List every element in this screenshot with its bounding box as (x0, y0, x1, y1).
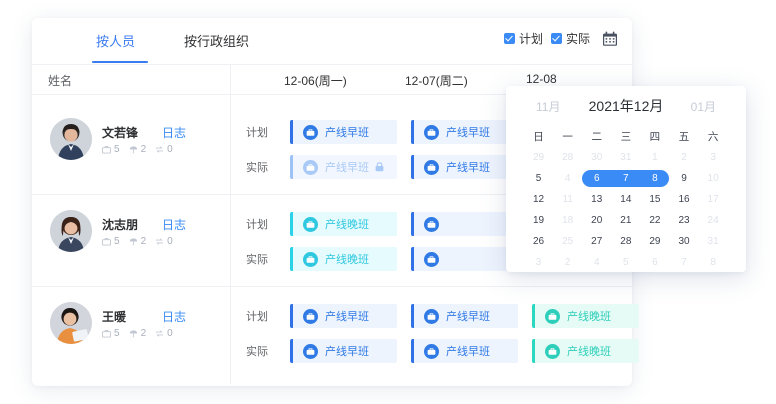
calendar-day[interactable]: 31 (699, 236, 728, 247)
shift-chip[interactable]: 产线早班 (290, 120, 397, 144)
calendar-day[interactable]: 20 (582, 215, 611, 226)
calendar-day[interactable]: 8 (699, 257, 728, 268)
calendar-day[interactable]: 22 (640, 215, 669, 226)
lock-icon (375, 162, 384, 172)
stat-shifts-value: 5 (114, 236, 120, 247)
chip-accent-bar (290, 212, 293, 236)
chip-accent-bar (290, 304, 293, 328)
calendar-day[interactable]: 24 (699, 215, 728, 226)
weekday-label: 日 (524, 129, 553, 144)
swap-icon (155, 145, 164, 154)
chip-accent-bar (411, 120, 414, 144)
chip-label: 产线晚班 (567, 343, 611, 359)
calendar-day[interactable]: 17 (699, 194, 728, 205)
row-label-actual: 实际 (246, 343, 268, 359)
chip-accent-bar (411, 247, 414, 271)
calendar-icon[interactable] (602, 31, 618, 47)
briefcase-icon (303, 125, 318, 140)
calendar-week-row: 12 11 13 14 15 16 17 (524, 189, 728, 210)
calendar-grid: 日 一 二 三 四 五 六 29 28 30 31 1 2 3 5 4 (524, 126, 728, 273)
briefcase-icon (303, 309, 318, 324)
weekday-label: 六 (699, 129, 728, 144)
person-stats: 5 2 0 (102, 328, 173, 339)
calendar-week-row: 3 2 4 5 6 7 8 (524, 252, 728, 273)
checkbox-actual-label: 实际 (566, 30, 590, 47)
calendar-day[interactable]: 5 (611, 257, 640, 268)
stat-swap: 0 (155, 236, 173, 247)
stat-shifts: 5 (102, 328, 120, 339)
chip-label: 产线早班 (325, 124, 369, 140)
next-month-button[interactable]: 01月 (691, 98, 716, 115)
calendar-day[interactable]: 28 (611, 236, 640, 247)
tab-by-person[interactable]: 按人员 (96, 31, 135, 50)
checkbox-actual-box[interactable] (551, 33, 562, 44)
calendar-day[interactable]: 26 (524, 236, 553, 247)
avatar (50, 302, 92, 344)
stat-swap: 0 (155, 328, 173, 339)
avatar (50, 118, 92, 160)
chip-accent-bar (290, 155, 293, 179)
shift-chip[interactable]: 产线晚班 (290, 247, 397, 271)
calendar-day[interactable]: 11 (553, 194, 582, 205)
calendar-day[interactable]: 21 (611, 215, 640, 226)
calendar-day[interactable]: 1 (640, 152, 669, 163)
chip-accent-bar (290, 120, 293, 144)
column-header-date-2: 12-08 (526, 72, 557, 86)
calendar-day[interactable]: 2 (669, 152, 698, 163)
calendar-day[interactable]: 25 (553, 236, 582, 247)
calendar-day[interactable]: 18 (553, 215, 582, 226)
date-picker-popup: 11月 2021年12月 01月 日 一 二 三 四 五 六 29 28 30 … (506, 86, 746, 272)
stat-shifts: 5 (102, 236, 120, 247)
shift-chip[interactable]: 产线早班 (290, 155, 397, 179)
calendar-day[interactable]: 13 (582, 194, 611, 205)
stat-shifts: 5 (102, 144, 120, 155)
calendar-day[interactable]: 5 (524, 173, 553, 184)
weekday-label: 一 (553, 129, 582, 144)
briefcase-icon (102, 237, 111, 246)
chip-label: 产线早班 (325, 343, 369, 359)
person-log-link[interactable]: 日志 (162, 308, 186, 325)
calendar-week-row: 5 4 6 7 8 9 10 (524, 168, 728, 189)
stat-swap-value: 0 (167, 328, 173, 339)
shift-chip[interactable] (411, 212, 518, 236)
briefcase-icon (102, 145, 111, 154)
chip-accent-bar (290, 339, 293, 363)
stat-leave: 2 (129, 328, 147, 339)
briefcase-icon (424, 344, 439, 359)
umbrella-icon (129, 329, 138, 338)
stat-leave-value: 2 (141, 328, 147, 339)
briefcase-icon (424, 160, 439, 175)
shift-chip[interactable]: 产线晚班 (290, 212, 397, 236)
calendar-day[interactable]: 6 (640, 257, 669, 268)
shift-chip[interactable]: 产线晚班 (532, 339, 639, 363)
weekday-label: 四 (640, 129, 669, 144)
calendar-day[interactable]: 29 (640, 236, 669, 247)
calendar-day[interactable]: 10 (699, 173, 728, 184)
calendar-day[interactable]: 19 (524, 215, 553, 226)
calendar-day[interactable]: 12 (524, 194, 553, 205)
chip-accent-bar (411, 212, 414, 236)
stat-shifts-value: 5 (114, 144, 120, 155)
row-label-actual: 实际 (246, 251, 268, 267)
tab-by-org[interactable]: 按行政组织 (184, 31, 249, 50)
shift-chip[interactable] (411, 247, 518, 271)
person-name: 文若锋 (102, 124, 138, 141)
shift-chip[interactable]: 产线早班 (411, 304, 518, 328)
calendar-week-row: 26 25 27 28 29 30 31 (524, 231, 728, 252)
briefcase-icon (545, 309, 560, 324)
column-header-name: 姓名 (48, 72, 72, 89)
checkbox-plan[interactable]: 计划 (504, 30, 543, 47)
chip-label: 产线早班 (446, 124, 490, 140)
person-name: 沈志朋 (102, 216, 138, 233)
calendar-day[interactable]: 9 (669, 173, 698, 184)
umbrella-icon (129, 145, 138, 154)
stat-leave-value: 2 (141, 144, 147, 155)
chip-accent-bar (411, 339, 414, 363)
calendar-day[interactable]: 31 (611, 152, 640, 163)
person-stats: 5 2 0 (102, 236, 173, 247)
shift-chip[interactable]: 产线早班 (411, 120, 518, 144)
shift-chip[interactable]: 产线早班 (290, 304, 397, 328)
calendar-day[interactable]: 16 (669, 194, 698, 205)
stat-leave-value: 2 (141, 236, 147, 247)
stat-swap: 0 (155, 144, 173, 155)
briefcase-icon (424, 217, 439, 232)
calendar-day[interactable]: 30 (582, 152, 611, 163)
shift-chip[interactable]: 产线早班 (411, 339, 518, 363)
calendar-day-selected[interactable]: 8 (640, 173, 669, 184)
briefcase-icon (303, 344, 318, 359)
chip-accent-bar (532, 339, 535, 363)
column-header-date-1: 12-07(周二) (405, 72, 468, 89)
chip-label: 产线早班 (446, 343, 490, 359)
chip-label: 产线早班 (325, 159, 369, 175)
calendar-day[interactable]: 30 (669, 236, 698, 247)
chip-accent-bar (411, 304, 414, 328)
checkbox-plan-box[interactable] (504, 33, 515, 44)
row-label-plan: 计划 (246, 124, 268, 140)
calendar-day[interactable]: 23 (669, 215, 698, 226)
stat-shifts-value: 5 (114, 328, 120, 339)
briefcase-icon (303, 252, 318, 267)
chip-label: 产线早班 (446, 159, 490, 175)
checkbox-plan-label: 计划 (519, 30, 543, 47)
calendar-day[interactable]: 4 (582, 257, 611, 268)
person-log-link[interactable]: 日志 (162, 216, 186, 233)
calendar-day[interactable]: 15 (640, 194, 669, 205)
calendar-day[interactable]: 28 (553, 152, 582, 163)
briefcase-icon (424, 252, 439, 267)
avatar (50, 210, 92, 252)
weekday-label: 二 (582, 129, 611, 144)
app-root: 按人员 按行政组织 计划 实际 (0, 0, 776, 404)
calendar-day[interactable]: 29 (524, 152, 553, 163)
chip-accent-bar (532, 304, 535, 328)
chip-accent-bar (411, 155, 414, 179)
stat-leave: 2 (129, 144, 147, 155)
calendar-week-row: 19 18 20 21 22 23 24 (524, 210, 728, 231)
calendar-day[interactable]: 3 (699, 152, 728, 163)
calendar-day[interactable]: 3 (524, 257, 553, 268)
chip-label: 产线晚班 (567, 308, 611, 324)
swap-icon (155, 329, 164, 338)
weekday-label: 五 (669, 129, 698, 144)
stat-swap-value: 0 (167, 144, 173, 155)
checkbox-actual[interactable]: 实际 (551, 30, 590, 47)
legend-group: 计划 实际 (504, 30, 618, 47)
chip-label: 产线早班 (325, 308, 369, 324)
chip-label: 产线晚班 (325, 216, 369, 232)
person-stats: 5 2 0 (102, 144, 173, 155)
active-tab-indicator (92, 61, 148, 63)
column-header-date-0: 12-06(周一) (284, 72, 347, 89)
briefcase-icon (102, 329, 111, 338)
person-name: 王暖 (102, 308, 126, 325)
chip-label: 产线早班 (446, 308, 490, 324)
stat-leave: 2 (129, 236, 147, 247)
shift-chip[interactable]: 产线早班 (411, 155, 518, 179)
calendar-weekday-row: 日 一 二 三 四 五 六 (524, 126, 728, 147)
shift-chip[interactable]: 产线晚班 (532, 304, 639, 328)
briefcase-icon (424, 309, 439, 324)
umbrella-icon (129, 237, 138, 246)
row-label-plan: 计划 (246, 308, 268, 324)
calendar-header: 11月 2021年12月 01月 (506, 86, 746, 124)
swap-icon (155, 237, 164, 246)
calendar-day[interactable]: 7 (669, 257, 698, 268)
calendar-day[interactable]: 27 (582, 236, 611, 247)
row-label-actual: 实际 (246, 159, 268, 175)
briefcase-icon (303, 160, 318, 175)
person-log-link[interactable]: 日志 (162, 124, 186, 141)
chip-label: 产线晚班 (325, 251, 369, 267)
row-label-plan: 计划 (246, 216, 268, 232)
calendar-day-selected[interactable]: 6 (582, 173, 611, 184)
stat-swap-value: 0 (167, 236, 173, 247)
calendar-day-selected[interactable]: 7 (611, 173, 640, 184)
shift-chip[interactable]: 产线早班 (290, 339, 397, 363)
calendar-day[interactable]: 4 (553, 173, 582, 184)
calendar-week-row: 29 28 30 31 1 2 3 (524, 147, 728, 168)
chip-accent-bar (290, 247, 293, 271)
calendar-day[interactable]: 14 (611, 194, 640, 205)
calendar-day[interactable]: 2 (553, 257, 582, 268)
briefcase-icon (303, 217, 318, 232)
table-row: 王暖 日志 5 2 (32, 286, 632, 370)
weekday-label: 三 (611, 129, 640, 144)
briefcase-icon (424, 125, 439, 140)
briefcase-icon (545, 344, 560, 359)
tab-bar: 按人员 按行政组织 计划 实际 (32, 18, 632, 65)
